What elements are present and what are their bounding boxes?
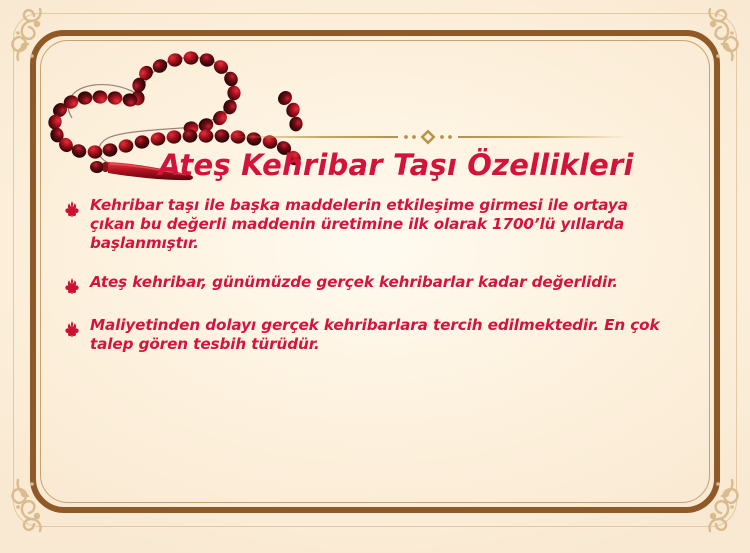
page-title: Ateş Kehribar Taşı Özellikleri [0,148,750,182]
corner-swirl-top-right-icon [672,4,746,78]
certificate-poster: Ateş Kehribar Taşı Özellikleri Kehribar … [0,0,750,553]
corner-swirl-bottom-left-icon [4,462,78,536]
fleur-de-lis-bullet-icon [62,276,82,296]
fleur-de-lis-bullet-icon [62,199,82,219]
list-item-text: Ateş kehribar, günümüzde gerçek kehribar… [90,273,618,292]
list-item: Maliyetinden dolayı gerçek kehribarlara … [62,316,690,354]
feature-list: Kehribar taşı ile başka maddelerin etkil… [62,196,690,374]
list-item: Ateş kehribar, günümüzde gerçek kehribar… [62,273,690,296]
corner-swirl-bottom-right-icon [672,462,746,536]
list-item: Kehribar taşı ile başka maddelerin etkil… [62,196,690,253]
list-item-text: Kehribar taşı ile başka maddelerin etkil… [90,196,668,253]
corner-swirl-top-left-icon [4,4,78,78]
fleur-de-lis-bullet-icon [62,319,82,339]
list-item-text: Maliyetinden dolayı gerçek kehribarlara … [90,316,668,354]
gold-diamond-divider-icon [228,128,628,146]
